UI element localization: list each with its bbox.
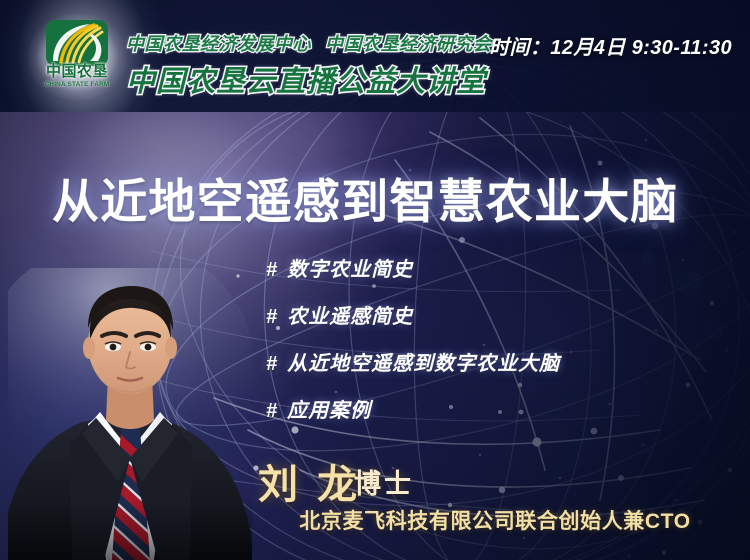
list-item-label: 数字农业简史 bbox=[287, 259, 413, 281]
speaker-name: 刘 龙 bbox=[258, 452, 361, 510]
list-item: #应用案例 bbox=[266, 397, 560, 444]
list-item: #从近地空遥感到数字农业大脑 bbox=[266, 350, 560, 397]
organizer-1: 中国农垦经济发展中心 bbox=[126, 34, 311, 54]
speaker-honorific: 博士 bbox=[354, 462, 414, 501]
program-title: 中国农垦云直播公益大讲堂 bbox=[126, 58, 486, 100]
list-item-label: 农业遥感简史 bbox=[287, 306, 413, 328]
topic-list: #数字农业简史 #农业遥感简史 #从近地空遥感到数字农业大脑 #应用案例 bbox=[266, 256, 560, 444]
speaker-affiliation: 北京麦飞科技有限公司联合创始人兼CTO bbox=[0, 505, 750, 535]
list-item-label: 从近地空遥感到数字农业大脑 bbox=[287, 353, 560, 375]
hash-icon: # bbox=[266, 350, 278, 378]
list-item: #农业遥感简史 bbox=[266, 303, 560, 350]
logo-chinese-text: 中国农垦 bbox=[34, 64, 120, 80]
hash-icon: # bbox=[266, 256, 278, 284]
list-item: #数字农业简史 bbox=[266, 256, 560, 303]
hash-icon: # bbox=[266, 397, 278, 425]
list-item-label: 应用案例 bbox=[287, 400, 371, 422]
poster-title: 从近地空遥感到智慧农业大脑 bbox=[52, 163, 679, 232]
china-state-farm-logo-icon bbox=[46, 20, 108, 66]
event-time: 时间：12月4日 9:30-11:30 bbox=[489, 31, 732, 60]
logo-english-text: CHINA STATE FARM bbox=[34, 81, 120, 88]
brand-logo: 中国农垦 CHINA STATE FARM bbox=[34, 18, 120, 96]
webinar-poster: 中国农垦 CHINA STATE FARM 中国农垦经济发展中心中国农垦经济研究… bbox=[0, 0, 750, 560]
organizer-2: 中国农垦经济研究会 bbox=[325, 34, 492, 54]
organizer-line: 中国农垦经济发展中心中国农垦经济研究会 bbox=[126, 30, 492, 56]
hash-icon: # bbox=[266, 303, 278, 331]
